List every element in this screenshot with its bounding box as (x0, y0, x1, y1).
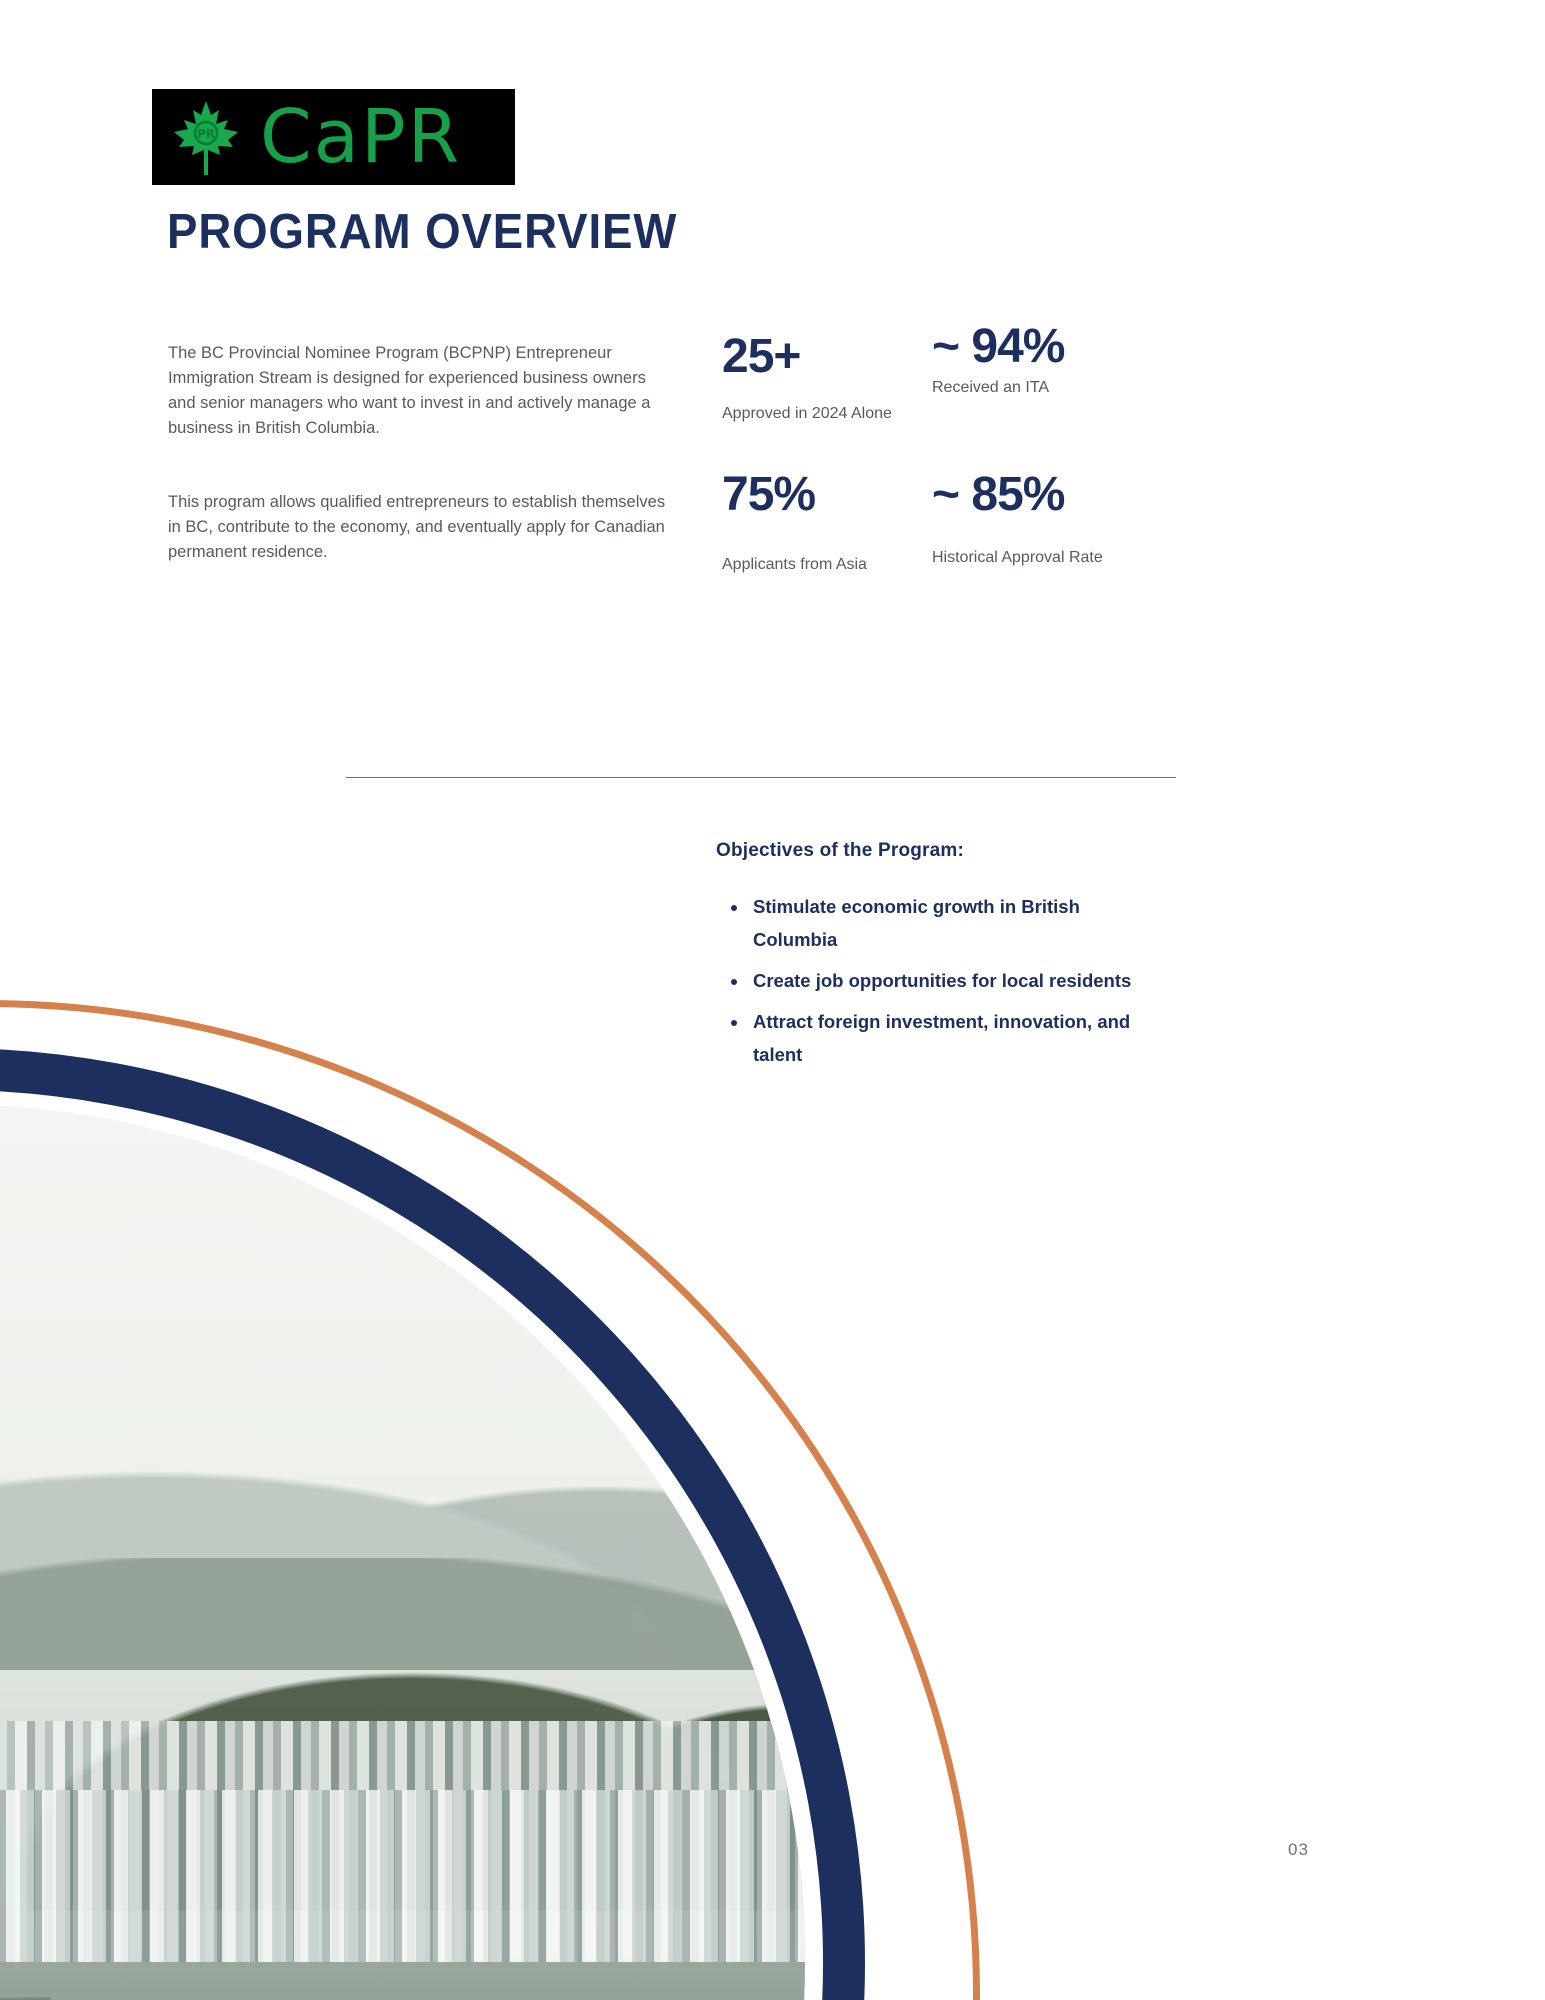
intro-paragraph-1: The BC Provincial Nominee Program (BCPNP… (168, 341, 668, 441)
photo-bay-water (0, 1670, 805, 2000)
bullet-icon (731, 905, 737, 911)
statistics-grid: 25+ Approved in 2024 Alone ~ 94% Receive… (722, 330, 1142, 575)
stat-value: 25+ (722, 332, 932, 382)
stat-value: ~ 94% (932, 322, 1142, 372)
navy-arc-decoration (0, 1048, 865, 2000)
intro-text-column: The BC Provincial Nominee Program (BCPNP… (168, 341, 668, 565)
stat-label: Approved in 2024 Alone (722, 404, 932, 424)
hero-photo-circle (0, 1104, 805, 2000)
photo-false-creek (0, 1962, 805, 2000)
hero-photo (0, 1104, 805, 2000)
objective-text: Stimulate economic growth in British Col… (753, 896, 1080, 950)
statistics-row-2: 75% Applicants from Asia ~ 85% Historica… (722, 470, 1142, 574)
page-title: PROGRAM OVERVIEW (167, 204, 677, 260)
statistics-row-1: 25+ Approved in 2024 Alone ~ 94% Receive… (722, 330, 1142, 424)
objectives-list: Stimulate economic growth in British Col… (716, 890, 1146, 1071)
intro-paragraph-2: This program allows qualified entreprene… (168, 490, 668, 565)
objectives-section: Objectives of the Program: Stimulate eco… (716, 840, 1146, 1079)
white-ring-gap (0, 1090, 820, 2000)
objective-text: Create job opportunities for local resid… (753, 970, 1131, 991)
stat-received-ita: ~ 94% Received an ITA (932, 330, 1142, 424)
stat-label: Applicants from Asia (722, 555, 932, 575)
leaf-pr-mark: PR (197, 127, 215, 141)
stat-value: ~ 85% (932, 470, 1142, 520)
stat-label: Received an ITA (932, 378, 1142, 398)
objective-item: Stimulate economic growth in British Col… (716, 890, 1146, 956)
bullet-icon (731, 979, 737, 985)
maple-leaf-icon: PR (170, 97, 242, 177)
objective-text: Attract foreign investment, innovation, … (753, 1011, 1130, 1065)
photo-near-mountains (0, 1558, 805, 1747)
objective-item: Create job opportunities for local resid… (716, 964, 1146, 997)
orange-arc-decoration (0, 1000, 980, 2000)
stat-approved-2024: 25+ Approved in 2024 Alone (722, 330, 932, 424)
section-divider (346, 777, 1176, 778)
stat-label: Historical Approval Rate (932, 548, 1142, 568)
stat-historical-approval: ~ 85% Historical Approval Rate (932, 470, 1142, 574)
bullet-icon (731, 1020, 737, 1026)
stat-value: 75% (722, 470, 932, 520)
photo-forest-headland (0, 1636, 805, 1910)
capr-logo[interactable]: PR CaPR (152, 89, 515, 185)
logo-wordmark: CaPR (260, 104, 461, 171)
objectives-heading: Objectives of the Program: (716, 840, 1146, 862)
stat-applicants-asia: 75% Applicants from Asia (722, 470, 932, 574)
photo-downtown-towers-2 (0, 1790, 805, 2000)
objective-item: Attract foreign investment, innovation, … (716, 1005, 1146, 1071)
photo-far-mountains (0, 1447, 805, 1687)
photo-downtown-towers (0, 1721, 805, 2000)
photo-sky (0, 1104, 805, 1756)
page-number: 03 (1288, 1840, 1309, 1860)
